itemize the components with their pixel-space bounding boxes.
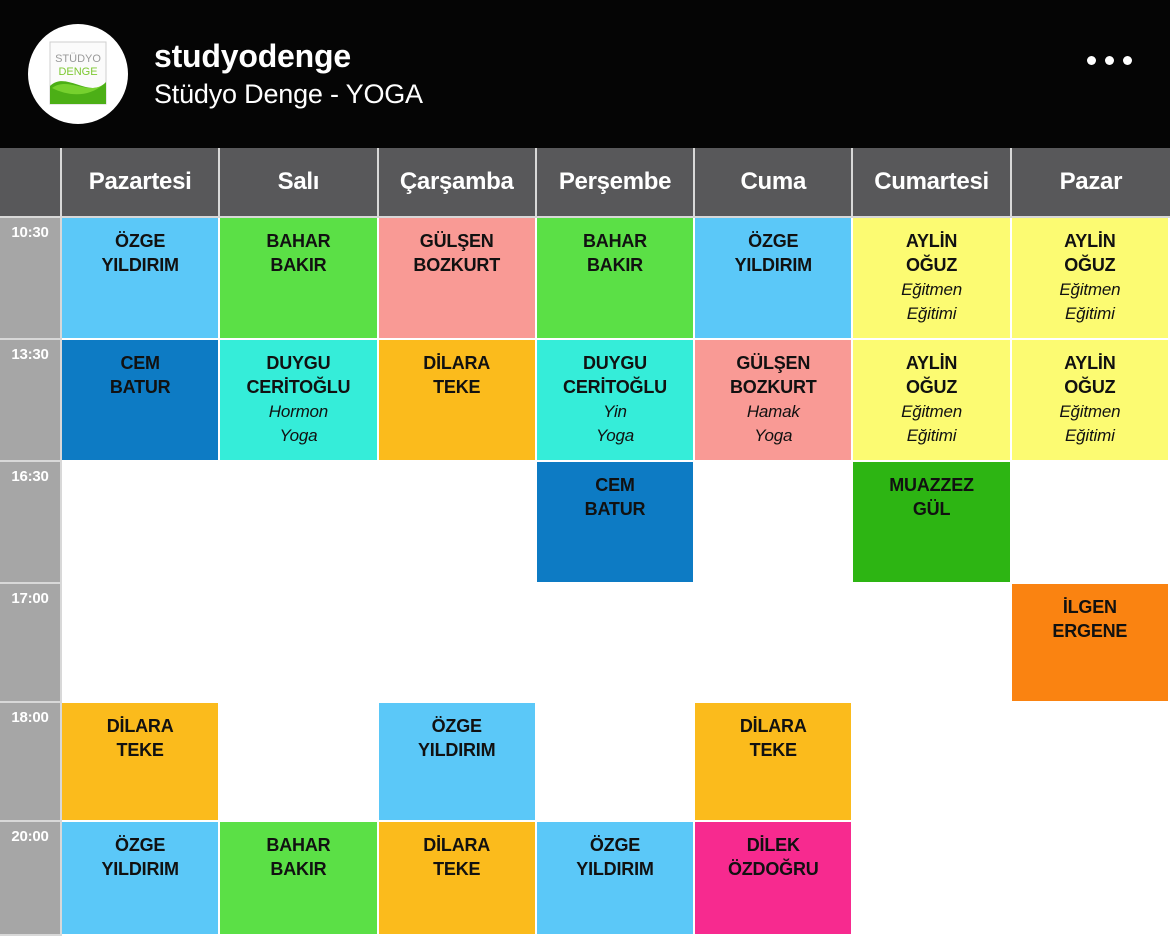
day-header-pazartesi[interactable]: Pazartesi bbox=[62, 148, 220, 218]
instructor-name-line: BAHAR bbox=[537, 230, 693, 254]
class-type-line: Eğitmen bbox=[853, 400, 1009, 424]
instructor-name-line: OĞUZ bbox=[1012, 376, 1168, 400]
instructor-name-line: YILDIRIM bbox=[62, 858, 218, 882]
instructor-name-line: DUYGU bbox=[220, 352, 376, 376]
empty-slot bbox=[695, 462, 853, 584]
instructor-name-line: BATUR bbox=[537, 498, 693, 522]
empty-slot bbox=[62, 462, 220, 584]
class-chip: BAHARBAKIR bbox=[220, 218, 376, 338]
class-type-line: Yoga bbox=[695, 424, 851, 448]
class-type-line: Hormon bbox=[220, 400, 376, 424]
class-chip: DUYGUCERİTOĞLUYinYoga bbox=[537, 340, 693, 460]
empty-slot bbox=[537, 584, 695, 703]
avatar[interactable]: STÜDYO DENGE bbox=[28, 24, 128, 124]
schedule-header-row: Pazartesi Salı Çarşamba Perşembe Cuma Cu… bbox=[0, 148, 1170, 218]
time-label-1800: 18:00 bbox=[0, 703, 62, 822]
class-slot[interactable]: BAHARBAKIR bbox=[220, 822, 378, 936]
class-chip: DİLARATEKE bbox=[62, 703, 218, 820]
schedule-row: 20:00ÖZGEYILDIRIMBAHARBAKIRDİLARATEKEÖZG… bbox=[0, 822, 1170, 936]
class-slot[interactable]: ÖZGEYILDIRIM bbox=[62, 822, 220, 936]
instructor-name-line: YILDIRIM bbox=[379, 739, 535, 763]
instructor-name-line: ÖZDOĞRU bbox=[695, 858, 851, 882]
class-type-line: Eğitimi bbox=[1012, 302, 1168, 326]
svg-text:DENGE: DENGE bbox=[58, 66, 97, 78]
instructor-name-line: TEKE bbox=[62, 739, 218, 763]
class-chip: ÖZGEYILDIRIM bbox=[379, 703, 535, 820]
class-slot[interactable]: MUAZZEZGÜL bbox=[853, 462, 1011, 584]
empty-slot bbox=[853, 703, 1011, 822]
instructor-name-line: MUAZZEZ bbox=[853, 474, 1009, 498]
instructor-name-line: YILDIRIM bbox=[62, 254, 218, 278]
class-slot[interactable]: DİLARATEKE bbox=[379, 822, 537, 936]
instructor-name-line: CERİTOĞLU bbox=[537, 376, 693, 400]
empty-slot bbox=[853, 822, 1011, 936]
class-slot[interactable]: AYLİNOĞUZEğitmenEğitimi bbox=[1012, 340, 1170, 462]
instructor-name-line: OĞUZ bbox=[853, 254, 1009, 278]
instructor-name-line: DİLARA bbox=[379, 352, 535, 376]
class-chip: DİLARATEKE bbox=[379, 822, 535, 934]
instructor-name-line: AYLİN bbox=[1012, 352, 1168, 376]
instructor-name-line: BAHAR bbox=[220, 834, 376, 858]
class-chip: DİLARATEKE bbox=[695, 703, 851, 820]
class-slot[interactable]: DİLARATEKE bbox=[695, 703, 853, 822]
instructor-name-line: ÖZGE bbox=[62, 230, 218, 254]
class-slot[interactable]: ÖZGEYILDIRIM bbox=[537, 822, 695, 936]
class-slot[interactable]: ÖZGEYILDIRIM bbox=[62, 218, 220, 340]
class-slot[interactable]: CEMBATUR bbox=[62, 340, 220, 462]
class-chip bbox=[62, 462, 218, 582]
class-chip: AYLİNOĞUZEğitmenEğitimi bbox=[853, 340, 1009, 460]
profile-text-block: studyodenge Stüdyo Denge - YOGA bbox=[154, 36, 423, 112]
profile-subtitle: Stüdyo Denge - YOGA bbox=[154, 77, 423, 112]
class-chip bbox=[1012, 822, 1168, 934]
studio-denge-logo-icon: STÜDYO DENGE bbox=[28, 24, 128, 124]
class-type-line: Yin bbox=[537, 400, 693, 424]
empty-slot bbox=[1012, 462, 1170, 584]
time-label-1630: 16:30 bbox=[0, 462, 62, 584]
time-label-2000: 20:00 bbox=[0, 822, 62, 936]
class-type-line: Eğitmen bbox=[1012, 278, 1168, 302]
class-slot[interactable]: AYLİNOĞUZEğitmenEğitimi bbox=[1012, 218, 1170, 340]
class-chip: AYLİNOĞUZEğitmenEğitimi bbox=[1012, 218, 1168, 338]
instructor-name-line: DUYGU bbox=[537, 352, 693, 376]
ellipsis-icon[interactable] bbox=[1087, 56, 1132, 65]
class-type-line: Eğitmen bbox=[1012, 400, 1168, 424]
instructor-name-line: GÜLŞEN bbox=[695, 352, 851, 376]
class-chip: CEMBATUR bbox=[537, 462, 693, 582]
class-slot[interactable]: DUYGUCERİTOĞLUHormonYoga bbox=[220, 340, 378, 462]
class-type-line: Yoga bbox=[220, 424, 376, 448]
class-chip bbox=[853, 703, 1009, 820]
ellipsis-dot bbox=[1105, 56, 1114, 65]
class-chip: DİLARATEKE bbox=[379, 340, 535, 460]
instructor-name-line: BAKIR bbox=[220, 254, 376, 278]
instructor-name-line: OĞUZ bbox=[1012, 254, 1168, 278]
instructor-name-line: BATUR bbox=[62, 376, 218, 400]
instructor-name-line: DİLARA bbox=[695, 715, 851, 739]
class-chip: ÖZGEYILDIRIM bbox=[695, 218, 851, 338]
class-slot[interactable]: GÜLŞENBOZKURTHamakYoga bbox=[695, 340, 853, 462]
schedule-body: 10:30ÖZGEYILDIRIMBAHARBAKIRGÜLŞENBOZKURT… bbox=[0, 218, 1170, 936]
day-header-persembe[interactable]: Perşembe bbox=[537, 148, 695, 218]
class-slot[interactable]: İLGENERGENE bbox=[1012, 584, 1170, 703]
class-chip bbox=[220, 703, 376, 820]
class-chip: GÜLŞENBOZKURTHamakYoga bbox=[695, 340, 851, 460]
empty-slot bbox=[1012, 703, 1170, 822]
class-chip: GÜLŞENBOZKURT bbox=[379, 218, 535, 338]
class-chip bbox=[379, 462, 535, 582]
ellipsis-dot bbox=[1087, 56, 1096, 65]
class-chip bbox=[695, 584, 851, 701]
time-label-1030: 10:30 bbox=[0, 218, 62, 340]
day-header-cumartesi[interactable]: Cumartesi bbox=[853, 148, 1011, 218]
class-chip: İLGENERGENE bbox=[1012, 584, 1168, 701]
instructor-name-line: ÖZGE bbox=[62, 834, 218, 858]
ellipsis-dot bbox=[1123, 56, 1132, 65]
instructor-name-line: CEM bbox=[62, 352, 218, 376]
empty-slot bbox=[62, 584, 220, 703]
instructor-name-line: ÖZGE bbox=[379, 715, 535, 739]
class-slot[interactable]: ÖZGEYILDIRIM bbox=[695, 218, 853, 340]
schedule-row: 16:30CEMBATURMUAZZEZGÜL bbox=[0, 462, 1170, 584]
empty-slot bbox=[379, 462, 537, 584]
empty-slot bbox=[853, 584, 1011, 703]
instructor-name-line: AYLİN bbox=[853, 230, 1009, 254]
class-chip bbox=[62, 584, 218, 701]
class-chip bbox=[1012, 462, 1168, 582]
class-chip: DUYGUCERİTOĞLUHormonYoga bbox=[220, 340, 376, 460]
class-chip bbox=[1012, 703, 1168, 820]
instructor-name-line: ERGENE bbox=[1012, 620, 1168, 644]
day-header-sali[interactable]: Salı bbox=[220, 148, 378, 218]
class-chip bbox=[537, 703, 693, 820]
class-chip bbox=[379, 584, 535, 701]
class-slot[interactable]: DUYGUCERİTOĞLUYinYoga bbox=[537, 340, 695, 462]
schedule-corner-cell bbox=[0, 148, 62, 218]
instructor-name-line: DİLEK bbox=[695, 834, 851, 858]
instructor-name-line: YILDIRIM bbox=[695, 254, 851, 278]
class-chip: MUAZZEZGÜL bbox=[853, 462, 1009, 582]
class-type-line: Eğitimi bbox=[853, 302, 1009, 326]
class-chip bbox=[537, 584, 693, 701]
class-chip bbox=[695, 462, 851, 582]
instructor-name-line: BAKIR bbox=[537, 254, 693, 278]
instructor-name-line: CEM bbox=[537, 474, 693, 498]
class-type-line: Eğitmen bbox=[853, 278, 1009, 302]
instructor-name-line: DİLARA bbox=[379, 834, 535, 858]
empty-slot bbox=[379, 584, 537, 703]
instructor-name-line: AYLİN bbox=[1012, 230, 1168, 254]
class-slot[interactable]: AYLİNOĞUZEğitmenEğitimi bbox=[853, 340, 1011, 462]
class-chip bbox=[853, 584, 1009, 701]
empty-slot bbox=[695, 584, 853, 703]
class-chip bbox=[220, 584, 376, 701]
instructor-name-line: BOZKURT bbox=[379, 254, 535, 278]
class-slot[interactable]: BAHARBAKIR bbox=[537, 218, 695, 340]
schedule-row: 13:30CEMBATURDUYGUCERİTOĞLUHormonYogaDİL… bbox=[0, 340, 1170, 462]
class-chip: DİLEKÖZDOĞRU bbox=[695, 822, 851, 934]
class-chip: AYLİNOĞUZEğitmenEğitimi bbox=[1012, 340, 1168, 460]
empty-slot bbox=[220, 703, 378, 822]
weekly-schedule-table: Pazartesi Salı Çarşamba Perşembe Cuma Cu… bbox=[0, 148, 1170, 936]
class-slot[interactable]: GÜLŞENBOZKURT bbox=[379, 218, 537, 340]
class-slot[interactable]: AYLİNOĞUZEğitmenEğitimi bbox=[853, 218, 1011, 340]
time-label-1700: 17:00 bbox=[0, 584, 62, 703]
day-header-carsamba[interactable]: Çarşamba bbox=[379, 148, 537, 218]
class-chip: BAHARBAKIR bbox=[220, 822, 376, 934]
empty-slot bbox=[220, 584, 378, 703]
instructor-name-line: ÖZGE bbox=[537, 834, 693, 858]
instructor-name-line: TEKE bbox=[379, 376, 535, 400]
day-header-cuma[interactable]: Cuma bbox=[695, 148, 853, 218]
class-chip: ÖZGEYILDIRIM bbox=[537, 822, 693, 934]
instructor-name-line: ÖZGE bbox=[695, 230, 851, 254]
instructor-name-line: OĞUZ bbox=[853, 376, 1009, 400]
instructor-name-line: GÜLŞEN bbox=[379, 230, 535, 254]
schedule-row: 10:30ÖZGEYILDIRIMBAHARBAKIRGÜLŞENBOZKURT… bbox=[0, 218, 1170, 340]
profile-username: studyodenge bbox=[154, 36, 423, 77]
class-slot[interactable]: ÖZGEYILDIRIM bbox=[379, 703, 537, 822]
instructor-name-line: TEKE bbox=[695, 739, 851, 763]
instructor-name-line: DİLARA bbox=[62, 715, 218, 739]
class-chip bbox=[220, 462, 376, 582]
class-chip: BAHARBAKIR bbox=[537, 218, 693, 338]
svg-text:STÜDYO: STÜDYO bbox=[55, 53, 101, 65]
schedule-row: 18:00DİLARATEKEÖZGEYILDIRIMDİLARATEKE bbox=[0, 703, 1170, 822]
class-slot[interactable]: DİLEKÖZDOĞRU bbox=[695, 822, 853, 936]
instructor-name-line: BAHAR bbox=[220, 230, 376, 254]
instructor-name-line: YILDIRIM bbox=[537, 858, 693, 882]
class-chip: AYLİNOĞUZEğitmenEğitimi bbox=[853, 218, 1009, 338]
class-slot[interactable]: DİLARATEKE bbox=[62, 703, 220, 822]
empty-slot bbox=[1012, 822, 1170, 936]
class-type-line: Eğitimi bbox=[853, 424, 1009, 448]
schedule-row: 17:00İLGENERGENE bbox=[0, 584, 1170, 703]
instructor-name-line: TEKE bbox=[379, 858, 535, 882]
class-slot[interactable]: DİLARATEKE bbox=[379, 340, 537, 462]
instructor-name-line: İLGEN bbox=[1012, 596, 1168, 620]
empty-slot bbox=[537, 703, 695, 822]
class-chip: CEMBATUR bbox=[62, 340, 218, 460]
time-label-1330: 13:30 bbox=[0, 340, 62, 462]
class-type-line: Eğitimi bbox=[1012, 424, 1168, 448]
class-chip bbox=[853, 822, 1009, 934]
day-header-pazar[interactable]: Pazar bbox=[1012, 148, 1170, 218]
class-slot[interactable]: BAHARBAKIR bbox=[220, 218, 378, 340]
instructor-name-line: BAKIR bbox=[220, 858, 376, 882]
class-type-line: Yoga bbox=[537, 424, 693, 448]
instructor-name-line: GÜL bbox=[853, 498, 1009, 522]
profile-header: STÜDYO DENGE studyodenge Stüdyo Denge - … bbox=[0, 0, 1170, 148]
class-chip: ÖZGEYILDIRIM bbox=[62, 822, 218, 934]
class-slot[interactable]: CEMBATUR bbox=[537, 462, 695, 584]
instructor-name-line: AYLİN bbox=[853, 352, 1009, 376]
class-type-line: Hamak bbox=[695, 400, 851, 424]
class-chip: ÖZGEYILDIRIM bbox=[62, 218, 218, 338]
empty-slot bbox=[220, 462, 378, 584]
instructor-name-line: BOZKURT bbox=[695, 376, 851, 400]
instructor-name-line: CERİTOĞLU bbox=[220, 376, 376, 400]
